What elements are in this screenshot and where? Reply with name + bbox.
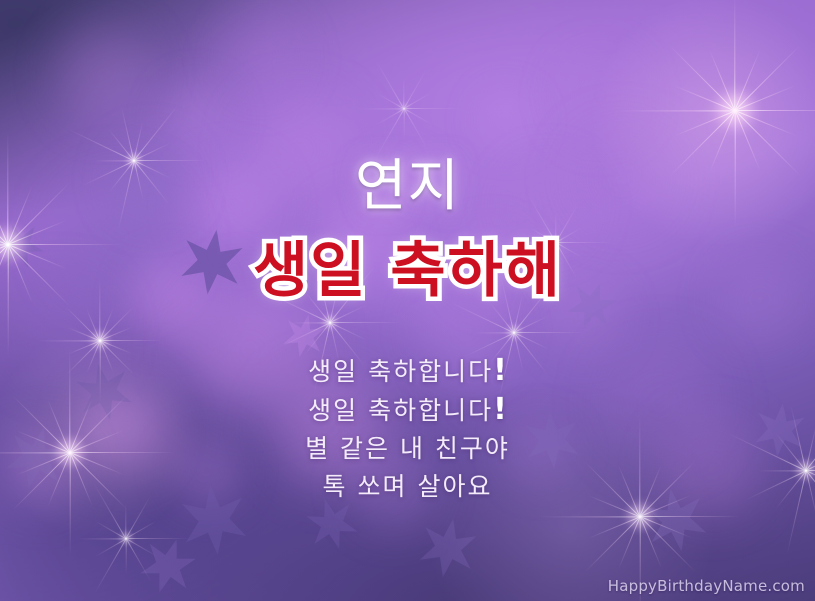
greeting-headline: 생일 축하해 xyxy=(0,240,815,304)
birthday-card: 연지 생일 축하해 생일 축하합니다!생일 축하합니다!별 같은 내 친구야톡 … xyxy=(0,0,815,601)
verse-exclamation: ! xyxy=(493,353,507,388)
verse-line-text: 톡 쏘며 살아요 xyxy=(323,472,493,501)
verse-exclamation: ! xyxy=(493,392,507,427)
verse-line: 생일 축하합니다! xyxy=(0,352,815,391)
card-text-area: 연지 생일 축하해 생일 축하합니다!생일 축하합니다!별 같은 내 친구야톡 … xyxy=(0,0,815,601)
verse-line-text: 별 같은 내 친구야 xyxy=(305,434,510,463)
recipient-name: 연지 xyxy=(0,158,815,217)
verse-block: 생일 축하합니다!생일 축하합니다!별 같은 내 친구야톡 쏘며 살아요 xyxy=(0,352,815,506)
verse-line-text: 생일 축하합니다 xyxy=(308,357,493,386)
verse-line: 별 같은 내 친구야 xyxy=(0,430,815,468)
watermark: HappyBirthdayName.com xyxy=(608,577,805,595)
verse-line: 톡 쏘며 살아요 xyxy=(0,468,815,506)
verse-line: 생일 축하합니다! xyxy=(0,391,815,430)
verse-line-text: 생일 축하합니다 xyxy=(308,396,493,425)
